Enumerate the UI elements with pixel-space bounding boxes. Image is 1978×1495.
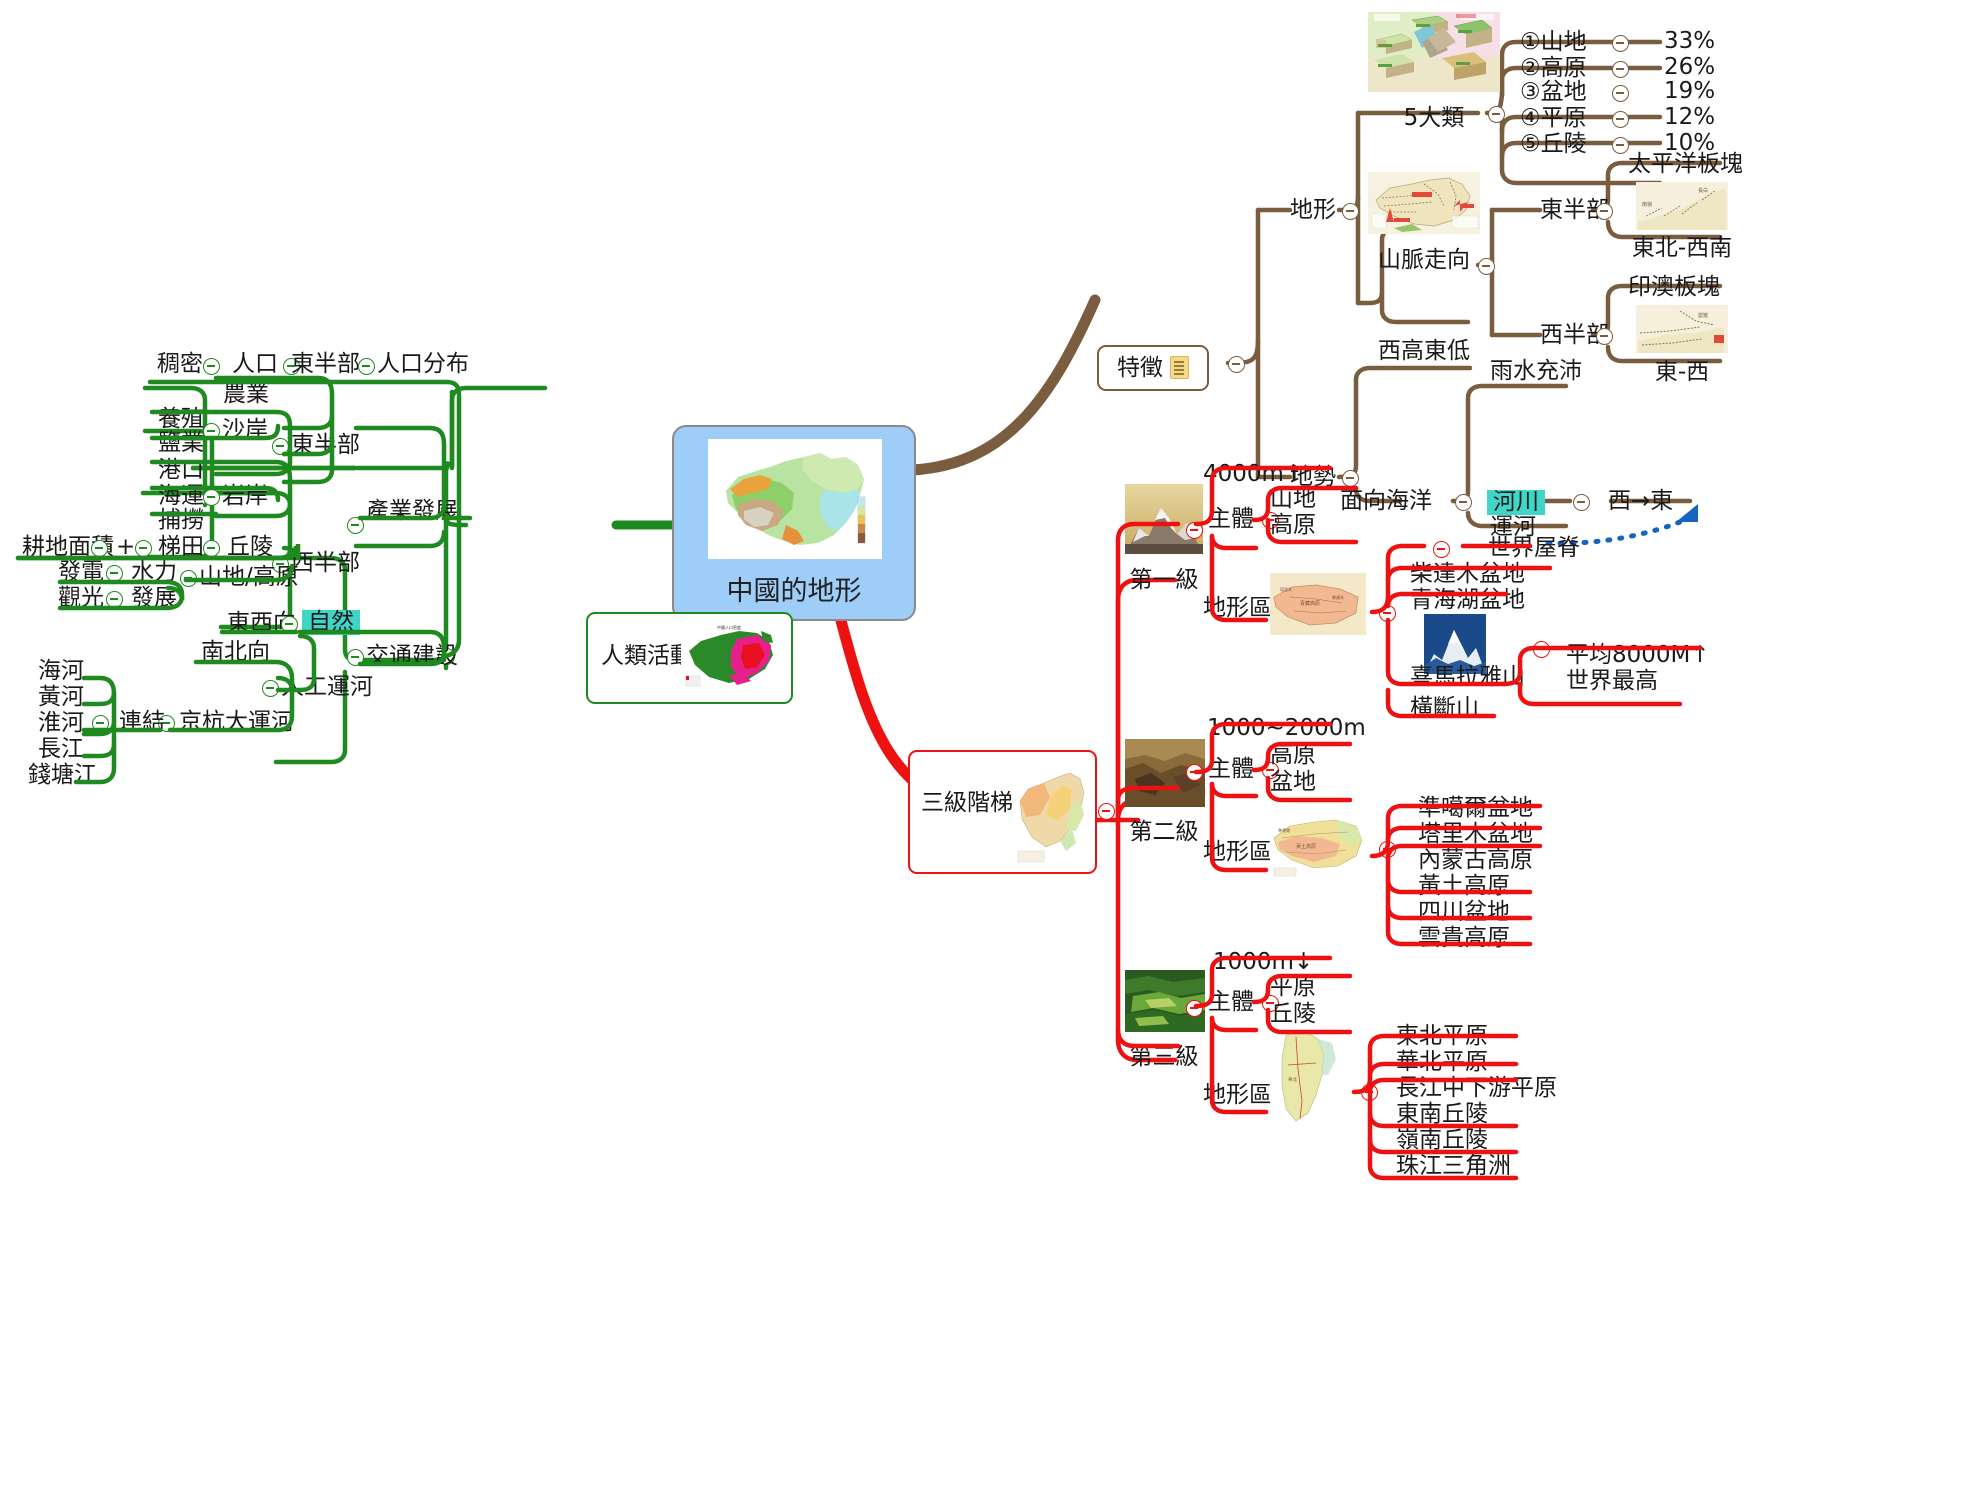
transport-label: 交通建設 — [366, 645, 458, 668]
central-node[interactable]: 中國的地形 — [672, 425, 916, 621]
farmland-toggle-0[interactable] — [91, 540, 108, 557]
svg-text:柴達木: 柴達木 — [1332, 594, 1344, 600]
eastern-plains-map: 華北 — [1270, 1025, 1346, 1130]
himalaya-toggle[interactable] — [1533, 641, 1550, 658]
landform-type-3-label: ③盆地 — [1520, 81, 1587, 104]
level-3-main-label: 主體 — [1208, 991, 1254, 1014]
china-relief-map — [708, 439, 882, 559]
level-2-region-item-2: 內蒙古高原 — [1418, 849, 1533, 872]
level-1-elevation: 4000m↑ — [1203, 463, 1303, 486]
development-label: 發展 — [131, 587, 177, 610]
level-3-region-item-0: 東北平原 — [1396, 1025, 1488, 1048]
grand-canal-label: 京杭大運河 — [179, 711, 294, 734]
level-1-region-toggle[interactable] — [1379, 605, 1396, 622]
river-item-4: 錢塘江 — [28, 764, 97, 787]
east-ranges-map: 長白 南嶺 — [1636, 182, 1728, 230]
level-3-region-toggle[interactable] — [1361, 1084, 1378, 1101]
level-1-region-item-0: 世界屋脊 — [1488, 537, 1580, 560]
ranges-east-toggle[interactable] — [1596, 203, 1613, 220]
human-activity-node[interactable]: 人類活動 中國人口密度 — [586, 612, 793, 704]
population-chain-3: 人口分布 — [377, 353, 469, 376]
terraces-label: 三級階梯 — [921, 792, 1013, 815]
rock-coast-item-2: 捕撈 — [158, 509, 204, 532]
mountain-ranges-toggle[interactable] — [1478, 258, 1495, 275]
five-landform-types-diagram — [1368, 12, 1500, 92]
level-2-region-label: 地形區 — [1203, 841, 1272, 864]
hydropower-label: 水力 — [131, 561, 177, 584]
himalaya-sub-1: 世界最高 — [1566, 670, 1658, 693]
five-landform-types-caption: 5大類 — [1368, 98, 1500, 132]
natural-toggle[interactable] — [281, 616, 298, 633]
level-1-region-item-4: 橫斷山 — [1410, 697, 1479, 720]
mountain-plateau-label: 山地/高原 — [199, 566, 299, 589]
level-2-toggle[interactable] — [1186, 764, 1203, 781]
level-2-region-item-5: 雲貴高原 — [1418, 927, 1510, 950]
relief-toggle[interactable] — [1342, 470, 1359, 487]
five-landform-types-toggle[interactable] — [1488, 106, 1505, 123]
ocean-toggle[interactable] — [1455, 494, 1472, 511]
landform-type-3-value: 19% — [1664, 80, 1715, 103]
level-1-region-item-1: 柴達木盆地 — [1410, 563, 1525, 586]
artificial-canal-label: 人工運河 — [281, 676, 373, 699]
level-2-region-item-3: 黃土高原 — [1418, 875, 1510, 898]
level-2-main-label: 主體 — [1208, 758, 1254, 781]
level-3-main-item-0: 平原 — [1270, 976, 1316, 999]
ranges-west-direction: 東-西 — [1626, 352, 1738, 386]
svg-text:青藏高原: 青藏高原 — [1300, 600, 1320, 607]
landform-type-2-toggle[interactable] — [1612, 61, 1629, 78]
terrain-toggle[interactable] — [1342, 203, 1359, 220]
natural-label: 自然 — [302, 610, 360, 635]
level-3-elevation: 1000m↓ — [1213, 951, 1313, 974]
industry-label: 產業發展 — [366, 500, 458, 523]
sand-coast-toggle[interactable] — [203, 423, 220, 440]
landform-type-2-value: 26% — [1664, 56, 1715, 79]
industry-east-toggle[interactable] — [272, 438, 289, 455]
landform-type-2-label: ②高原 — [1520, 57, 1587, 80]
roof-of-world-toggle[interactable] — [1433, 541, 1450, 558]
level-2-caption: 第二級 — [1118, 812, 1210, 846]
level-3-region-item-4: 嶺南丘陵 — [1396, 1129, 1488, 1152]
terraced-field-label: 梯田 — [158, 536, 204, 559]
canal-direction-label: 南北向 — [201, 641, 270, 664]
himalaya-sub-0: 平均8000M↑ — [1566, 644, 1710, 667]
level-1-region-item-3: 喜馬拉雅山 — [1410, 666, 1525, 689]
farmland-toggle-1[interactable] — [135, 540, 152, 557]
level-1-main-item-0: 山地 — [1270, 488, 1316, 511]
ranges-west-toggle[interactable] — [1596, 328, 1613, 345]
level-3-toggle[interactable] — [1186, 1000, 1203, 1017]
ranges-east-plate: 太平洋板塊 — [1628, 153, 1743, 176]
svg-text:準噶爾: 準噶爾 — [1278, 827, 1290, 833]
river-flow-label: 西→東 — [1608, 490, 1673, 513]
level-3-caption: 第三級 — [1118, 1037, 1210, 1071]
rock-coast-label: 岩岸 — [222, 485, 268, 508]
industry-east-label: 東半部 — [291, 434, 360, 457]
power-label: 發電 — [58, 561, 104, 584]
level-2-region-item-1: 塔里木盆地 — [1418, 823, 1533, 846]
svg-text:黃土高原: 黃土高原 — [1296, 843, 1316, 850]
rain-label: 雨水充沛 — [1490, 360, 1582, 383]
level-2-main-item-1: 盆地 — [1270, 771, 1316, 794]
link-label: 連結 — [119, 711, 165, 734]
level-2-region-item-0: 準噶爾盆地 — [1418, 797, 1533, 820]
features-label: 特徵 — [1117, 355, 1163, 381]
svg-text:華北: 華北 — [1288, 1076, 1297, 1083]
river-item-0: 海河 — [38, 660, 84, 683]
svg-text:南嶺: 南嶺 — [1642, 201, 1652, 208]
mountain-plateau-toggle[interactable] — [180, 570, 197, 587]
ocean-label: 面向海洋 — [1340, 490, 1432, 513]
features-toggle[interactable] — [1228, 356, 1245, 373]
terraces-toggle[interactable] — [1098, 803, 1115, 820]
river-item-1: 黃河 — [38, 686, 84, 709]
level-1-main-label: 主體 — [1208, 508, 1254, 531]
level-2-elevation: 1000~2000m — [1207, 717, 1366, 740]
west-ranges-map: 崑崙 — [1636, 305, 1728, 353]
farmland-plus: + — [116, 536, 135, 559]
population-toggle-2[interactable] — [358, 358, 375, 375]
svg-text:塔里木: 塔里木 — [1280, 586, 1292, 592]
second-terrace-map: 黃土高原 準噶爾 — [1270, 812, 1366, 878]
level-1-region-label: 地形區 — [1203, 597, 1272, 620]
river-item-3: 長江 — [38, 738, 84, 761]
page-title: 中國的地形 — [674, 569, 914, 608]
landform-type-4-value: 12% — [1664, 106, 1715, 129]
terrain-label: 地形 — [1290, 199, 1336, 222]
population-chain-2: 東半部 — [291, 353, 360, 376]
qinghai-tibet-plateau-map: 青藏高原 柴達木 塔里木 — [1270, 573, 1366, 635]
level-1-region-item-2: 青海湖盆地 — [1410, 589, 1525, 612]
agriculture-label: 農業 — [223, 383, 269, 406]
terraces-node[interactable]: 三級階梯 — [908, 750, 1097, 874]
ranges-east-direction: 東北-西南 — [1626, 228, 1738, 262]
farmland-toggle-2[interactable] — [203, 540, 220, 557]
mindmap-canvas: 中國的地形 特徵 地形 — [0, 0, 1978, 1495]
rock-coast-item-0: 港口 — [158, 459, 204, 482]
artificial-canal-toggle[interactable] — [262, 680, 279, 697]
svg-text:長白: 長白 — [1698, 187, 1708, 194]
svg-text:中國人口密度: 中國人口密度 — [717, 624, 741, 630]
population-chain-1: 人口 — [232, 353, 278, 376]
link-toggle[interactable] — [92, 715, 109, 732]
svg-text:崑崙: 崑崙 — [1698, 312, 1708, 319]
snow-mountain-photo — [1125, 484, 1203, 554]
level-3-main-item-1: 丘陵 — [1270, 1003, 1316, 1026]
tourism-label: 觀光 — [58, 587, 104, 610]
landform-type-4-label: ④平原 — [1520, 107, 1587, 130]
transport-toggle[interactable] — [347, 649, 364, 666]
level-1-main-item-1: 高原 — [1270, 514, 1316, 537]
power-toggle[interactable] — [106, 565, 123, 582]
river-item-2: 淮河 — [38, 712, 84, 735]
level-1-caption: 第一級 — [1118, 560, 1210, 594]
landform-type-1-value: 33% — [1664, 30, 1715, 53]
population-toggle-0[interactable] — [203, 358, 220, 375]
note-icon — [1170, 356, 1189, 379]
landform-type-5-toggle[interactable] — [1612, 137, 1629, 154]
rock-coast-item-1: 海運 — [158, 485, 204, 508]
level-2-main-item-0: 高原 — [1270, 744, 1316, 767]
china-population-density-map: 中國人口密度 — [681, 621, 781, 694]
level-2-region-item-4: 四川盆地 — [1418, 901, 1510, 924]
landform-type-4-toggle[interactable] — [1612, 111, 1629, 128]
tourism-toggle[interactable] — [106, 591, 123, 608]
population-chain-0: 稠密 — [157, 353, 203, 376]
landform-type-1-toggle[interactable] — [1612, 35, 1629, 52]
river-label: 河川 — [1487, 490, 1545, 515]
china-three-terraces-map — [1014, 759, 1089, 865]
sand-coast-item-0: 養殖 — [158, 408, 204, 431]
level-3-region-item-2: 長江中下游平原 — [1396, 1077, 1557, 1100]
level-3-region-item-1: 華北平原 — [1396, 1051, 1488, 1074]
china-mountain-ranges-map — [1368, 172, 1480, 234]
level-3-region-label: 地形區 — [1203, 1084, 1272, 1107]
hills-label: 丘陵 — [227, 536, 273, 559]
industry-west-label: 西半部 — [291, 552, 360, 575]
level-1-toggle[interactable] — [1186, 522, 1203, 539]
relief-item-0: 西高東低 — [1378, 340, 1470, 363]
level-2-region-toggle[interactable] — [1379, 841, 1396, 858]
mountain-ranges-caption: 山脈走向 — [1368, 240, 1480, 274]
sand-coast-label: 沙岸 — [222, 419, 268, 442]
level-3-region-item-3: 東南丘陵 — [1396, 1103, 1488, 1126]
human-activity-label: 人類活動 — [601, 645, 693, 668]
level-3-region-item-5: 珠江三角洲 — [1396, 1155, 1511, 1178]
ranges-west-plate: 印澳板塊 — [1628, 276, 1720, 299]
industry-toggle[interactable] — [347, 517, 364, 534]
features-node[interactable]: 特徵 — [1097, 345, 1209, 391]
landform-type-3-toggle[interactable] — [1612, 85, 1629, 102]
river-toggle[interactable] — [1573, 494, 1590, 511]
landform-type-5-label: ⑤丘陵 — [1520, 133, 1587, 156]
landform-type-1-label: ①山地 — [1520, 31, 1587, 54]
rock-coast-toggle[interactable] — [203, 489, 220, 506]
sand-coast-item-1: 鹽業 — [158, 432, 204, 455]
